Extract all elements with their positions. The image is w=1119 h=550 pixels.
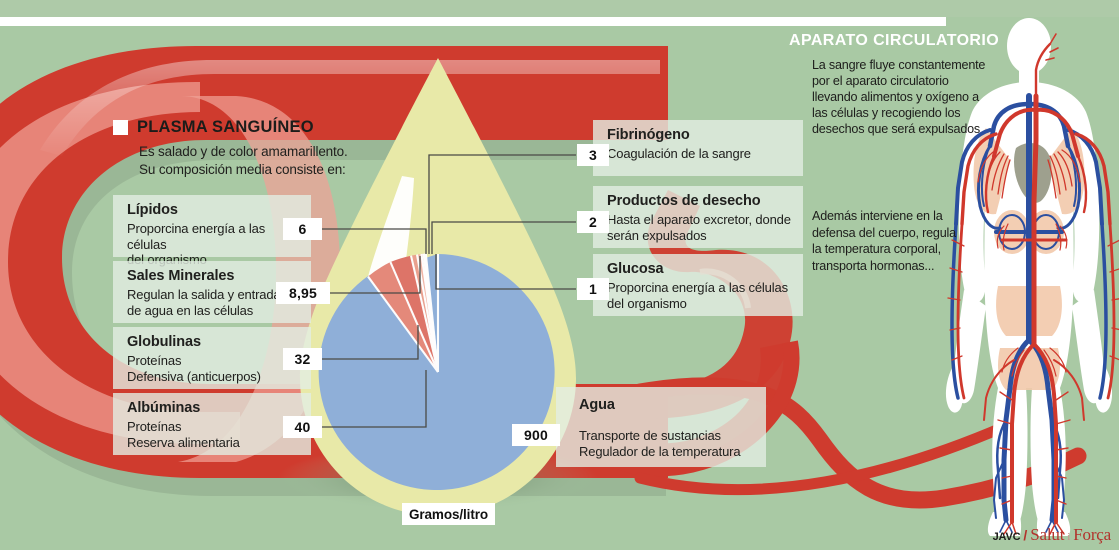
value-globulinas: 32: [283, 348, 322, 370]
credit-brand-conjunction: i: [1067, 531, 1070, 543]
card-agua[interactable]: Agua Transporte de sustancias Regulador …: [556, 387, 766, 467]
card-glucosa-desc: Proporcina energía a las células del org…: [607, 280, 791, 312]
top-white-rule: [0, 17, 946, 26]
top-band: [0, 0, 1119, 17]
card-lipidos[interactable]: Lípidos Proporcina energía a las células…: [113, 195, 311, 257]
value-sales-minerales: 8,95: [276, 282, 330, 304]
card-globulinas-title: Globulinas: [127, 334, 299, 351]
credit-author: JAVC: [993, 531, 1021, 543]
white-square-swatch-icon: [113, 120, 128, 135]
value-glucosa: 1: [577, 278, 609, 300]
card-glucosa[interactable]: Glucosa Proporcina energía a las células…: [593, 254, 803, 316]
value-agua: 900: [512, 424, 560, 446]
card-productos-desecho[interactable]: Productos de desecho Hasta el aparato ex…: [593, 186, 803, 248]
plasma-header: PLASMA SANGUÍNEO Es salado y de color am…: [113, 118, 413, 179]
credit-brand-first: Salut: [1030, 525, 1064, 545]
card-albuminas-desc: Proteínas Reserva alimentaria: [127, 419, 299, 451]
card-productos-desecho-title: Productos de desecho: [607, 193, 791, 210]
plasma-subtitle: Es salado y de color amamarillento. Su c…: [139, 143, 413, 179]
card-globulinas-desc: Proteínas Defensiva (anticuerpos): [127, 353, 299, 385]
card-albuminas-title: Albúminas: [127, 400, 299, 417]
card-fibrinogeno[interactable]: Fibrinógeno Coagulación de la sangre: [593, 120, 803, 176]
value-albuminas: 40: [283, 416, 322, 438]
plasma-subtitle-line1: Es salado y de color amamarillento.: [139, 143, 413, 161]
value-fibrinogeno: 3: [577, 144, 609, 166]
credit-line: JAVC / Salut i Força: [993, 525, 1111, 545]
card-agua-title: Agua: [579, 397, 754, 414]
card-lipidos-title: Lípidos: [127, 202, 299, 219]
units-label: Gramos/litro: [402, 503, 495, 525]
plasma-subtitle-line2: Su composición media consiste en:: [139, 161, 413, 179]
circulatory-paragraph-1: La sangre fluye constantemente por el ap…: [812, 57, 997, 138]
value-lipidos: 6: [283, 218, 322, 240]
card-sales-minerales-title: Sales Minerales: [127, 268, 299, 285]
circulatory-paragraph-2: Además interviene en la defensa del cuer…: [812, 208, 962, 274]
credit-brand-second: Força: [1073, 525, 1111, 545]
plasma-title: PLASMA SANGUÍNEO: [137, 118, 314, 137]
card-glucosa-title: Glucosa: [607, 261, 791, 278]
card-productos-desecho-desc: Hasta el aparato excretor, donde serán e…: [607, 212, 791, 244]
circulatory-title: APARATO CIRCULATORIO: [789, 32, 999, 50]
infographic-canvas: PLASMA SANGUÍNEO Es salado y de color am…: [0, 0, 1119, 550]
plasma-title-row: PLASMA SANGUÍNEO: [113, 118, 413, 137]
card-fibrinogeno-title: Fibrinógeno: [607, 127, 791, 144]
value-productos-desecho: 2: [577, 211, 609, 233]
credit-separator: /: [1023, 527, 1027, 543]
card-globulinas[interactable]: Globulinas Proteínas Defensiva (anticuer…: [113, 327, 311, 389]
card-agua-desc: Transporte de sustancias Regulador de la…: [579, 428, 754, 460]
card-albuminas[interactable]: Albúminas Proteínas Reserva alimentaria: [113, 393, 311, 455]
card-sales-minerales-desc: Regulan la salida y entrada de agua en l…: [127, 287, 299, 319]
card-fibrinogeno-desc: Coagulación de la sangre: [607, 146, 791, 162]
